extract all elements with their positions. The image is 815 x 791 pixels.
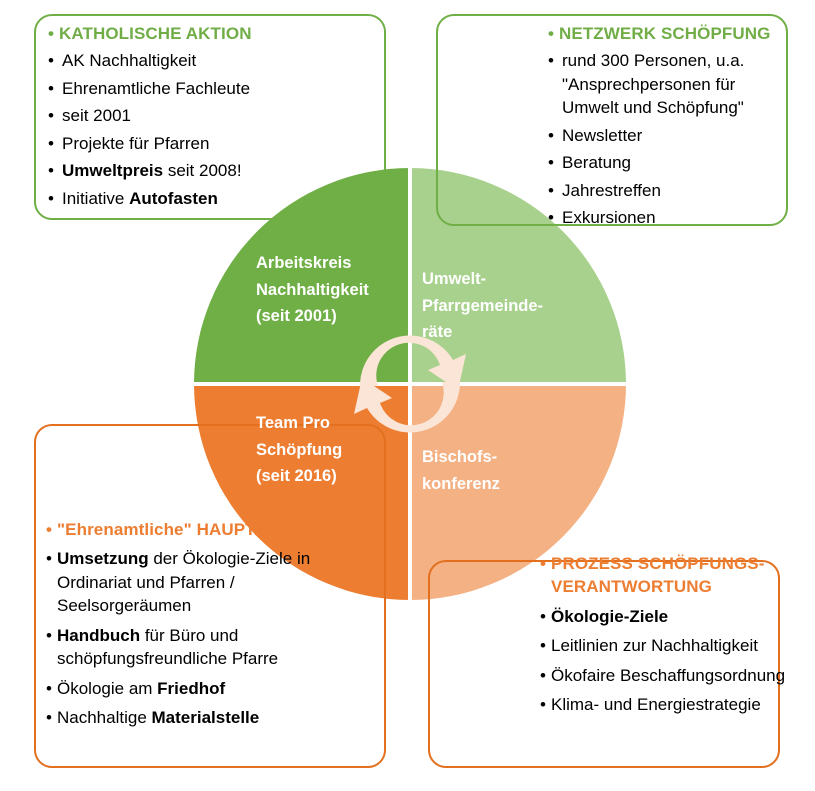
callout-text-prozess-schoepfungsverantwortung: PROZESS SCHÖPFUNGS-VERANTWORTUNG Ökologi… (540, 552, 788, 723)
list-item: Beratung (548, 151, 784, 174)
callout-text-netzwerk-schoepfung: NETZWERK SCHÖPFUNG rund 300 Personen, u.… (548, 22, 784, 234)
list-item: Leitlinien zur Nachhaltigkeit (540, 634, 788, 657)
list-item: Jahrestreffen (548, 179, 784, 202)
list-item: Projekte für Pfarren (48, 132, 378, 155)
list-item: Ökologie am Friedhof (46, 677, 346, 700)
list-item: Umweltpreis seit 2008! (48, 159, 378, 182)
quadrant-label-line: Umwelt- (422, 266, 543, 293)
list-item-heading: NETZWERK SCHÖPFUNG (548, 22, 784, 45)
list-item: Nachhaltige Materialstelle (46, 706, 346, 729)
list-item-heading: KATHOLISCHE AKTION (48, 22, 378, 45)
list-item: seit 2001 (48, 104, 378, 127)
list-item: Klima- und Energiestrategie (540, 693, 788, 716)
list-item: Ökofaire Beschaffungsordnung (540, 664, 788, 687)
list-item: rund 300 Personen, u.a. "Ansprechpersone… (548, 49, 784, 119)
list-item: Ehrenamtliche Fachleute (48, 77, 378, 100)
cycle-arrows-icon (342, 314, 478, 454)
quadrant-label-line: Team Pro (256, 410, 342, 437)
callout-text-ehrenamtliche-hauptamtliche: "Ehrenamtliche" HAUPTAMTLICHE Umsetzung … (46, 518, 346, 736)
quadrant-label-team-pro-schoepfung: Team Pro Schöpfung (seit 2016) (256, 410, 342, 490)
list-item-heading: PROZESS SCHÖPFUNGS-VERANTWORTUNG (540, 552, 788, 599)
callout-text-katholische-aktion: KATHOLISCHE AKTION AK Nachhaltigkeit Ehr… (48, 22, 378, 214)
bullet-list: KATHOLISCHE AKTION AK Nachhaltigkeit Ehr… (48, 22, 378, 210)
quadrant-label-line: Nachhaltigkeit (256, 277, 369, 304)
bullet-list: "Ehrenamtliche" HAUPTAMTLICHE Umsetzung … (46, 518, 346, 730)
list-item: Handbuch für Büro und schöpfungsfreundli… (46, 624, 346, 671)
bullet-list: PROZESS SCHÖPFUNGS-VERANTWORTUNG Ökologi… (540, 552, 788, 717)
list-item-heading: "Ehrenamtliche" HAUPTAMTLICHE (46, 518, 346, 541)
quadrant-label-line: (seit 2016) (256, 463, 342, 490)
quadrant-label-line: Arbeitskreis (256, 250, 369, 277)
list-item: AK Nachhaltigkeit (48, 49, 378, 72)
list-item: Initiative Autofasten (48, 187, 378, 210)
list-item: Exkursionen (548, 206, 784, 229)
quadrant-label-line: Schöpfung (256, 437, 342, 464)
list-item: Ökologie-Ziele (540, 605, 788, 628)
quadrant-label-line: konferenz (422, 471, 500, 498)
bullet-list: NETZWERK SCHÖPFUNG rund 300 Personen, u.… (548, 22, 784, 230)
diagram-canvas: Arbeitskreis Nachhaltigkeit (seit 2001) … (0, 0, 815, 791)
list-item: Newsletter (548, 124, 784, 147)
list-item: Umsetzung der Ökologie-Ziele in Ordinari… (46, 547, 346, 617)
